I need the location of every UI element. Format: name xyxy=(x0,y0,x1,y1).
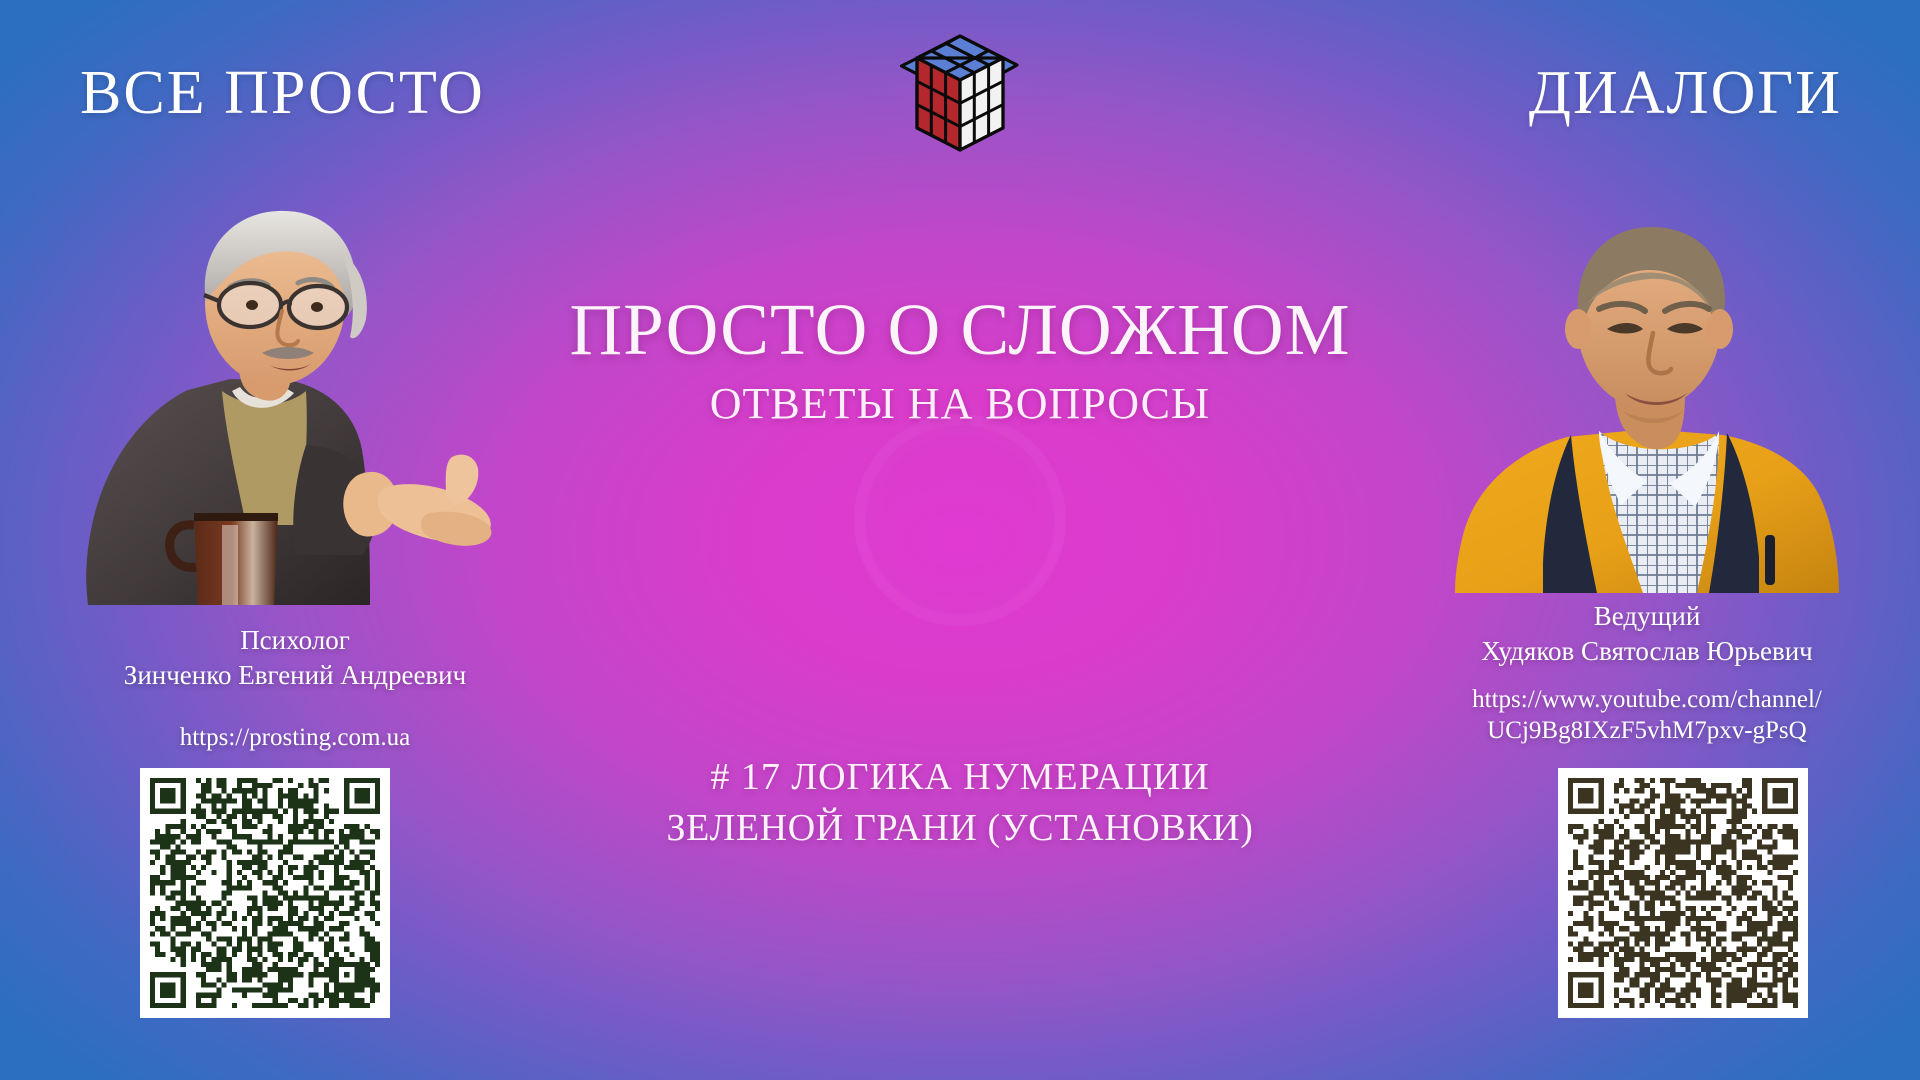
episode-line-1: # 17 ЛОГИКА НУМЕРАЦИИ xyxy=(510,752,1410,803)
right-person-caption: Ведущий Худяков Святослав Юрьевич xyxy=(1432,599,1862,668)
brand-title-right: ДИАЛОГИ xyxy=(1529,58,1842,129)
host-photo xyxy=(1447,205,1847,595)
left-person-block: Психолог Зинченко Евгений Андреевич http… xyxy=(60,195,530,753)
right-person-name: Худяков Святослав Юрьевич xyxy=(1432,634,1862,669)
qr-code-website[interactable] xyxy=(140,768,390,1018)
left-person-role: Психолог xyxy=(60,623,530,658)
psychologist-photo xyxy=(70,195,520,615)
right-person-url-line2: UCj9Bg8IXzF5vhM7pxv-gPsQ xyxy=(1432,715,1862,746)
episode-line-2: ЗЕЛЕНОЙ ГРАНИ (УСТАНОВКИ) xyxy=(510,803,1410,854)
left-person-url[interactable]: https://prosting.com.ua xyxy=(60,722,530,753)
right-person-block: Ведущий Худяков Святослав Юрьевич https:… xyxy=(1432,205,1862,747)
page-subtitle: ОТВЕТЫ НА ВОПРОСЫ xyxy=(460,378,1460,429)
episode-title-block: # 17 ЛОГИКА НУМЕРАЦИИ ЗЕЛЕНОЙ ГРАНИ (УСТ… xyxy=(510,752,1410,854)
video-thumbnail-canvas: ВСЕ ПРОСТО xyxy=(0,0,1920,1080)
qr-code-youtube[interactable] xyxy=(1558,768,1808,1018)
center-title-block: ПРОСТО О СЛОЖНОМ ОТВЕТЫ НА ВОПРОСЫ xyxy=(460,292,1460,429)
page-title: ПРОСТО О СЛОЖНОМ xyxy=(460,292,1460,368)
right-person-url[interactable]: https://www.youtube.com/channel/ UCj9Bg8… xyxy=(1432,684,1862,747)
left-person-caption: Психолог Зинченко Евгений Андреевич xyxy=(60,623,530,692)
right-person-role: Ведущий xyxy=(1432,599,1862,634)
right-person-url-line1: https://www.youtube.com/channel/ xyxy=(1432,684,1862,715)
rubiks-cube-icon xyxy=(885,28,1035,178)
brand-title-left: ВСЕ ПРОСТО xyxy=(80,58,485,129)
left-person-name: Зинченко Евгений Андреевич xyxy=(60,658,530,693)
circle-watermark xyxy=(854,414,1066,626)
